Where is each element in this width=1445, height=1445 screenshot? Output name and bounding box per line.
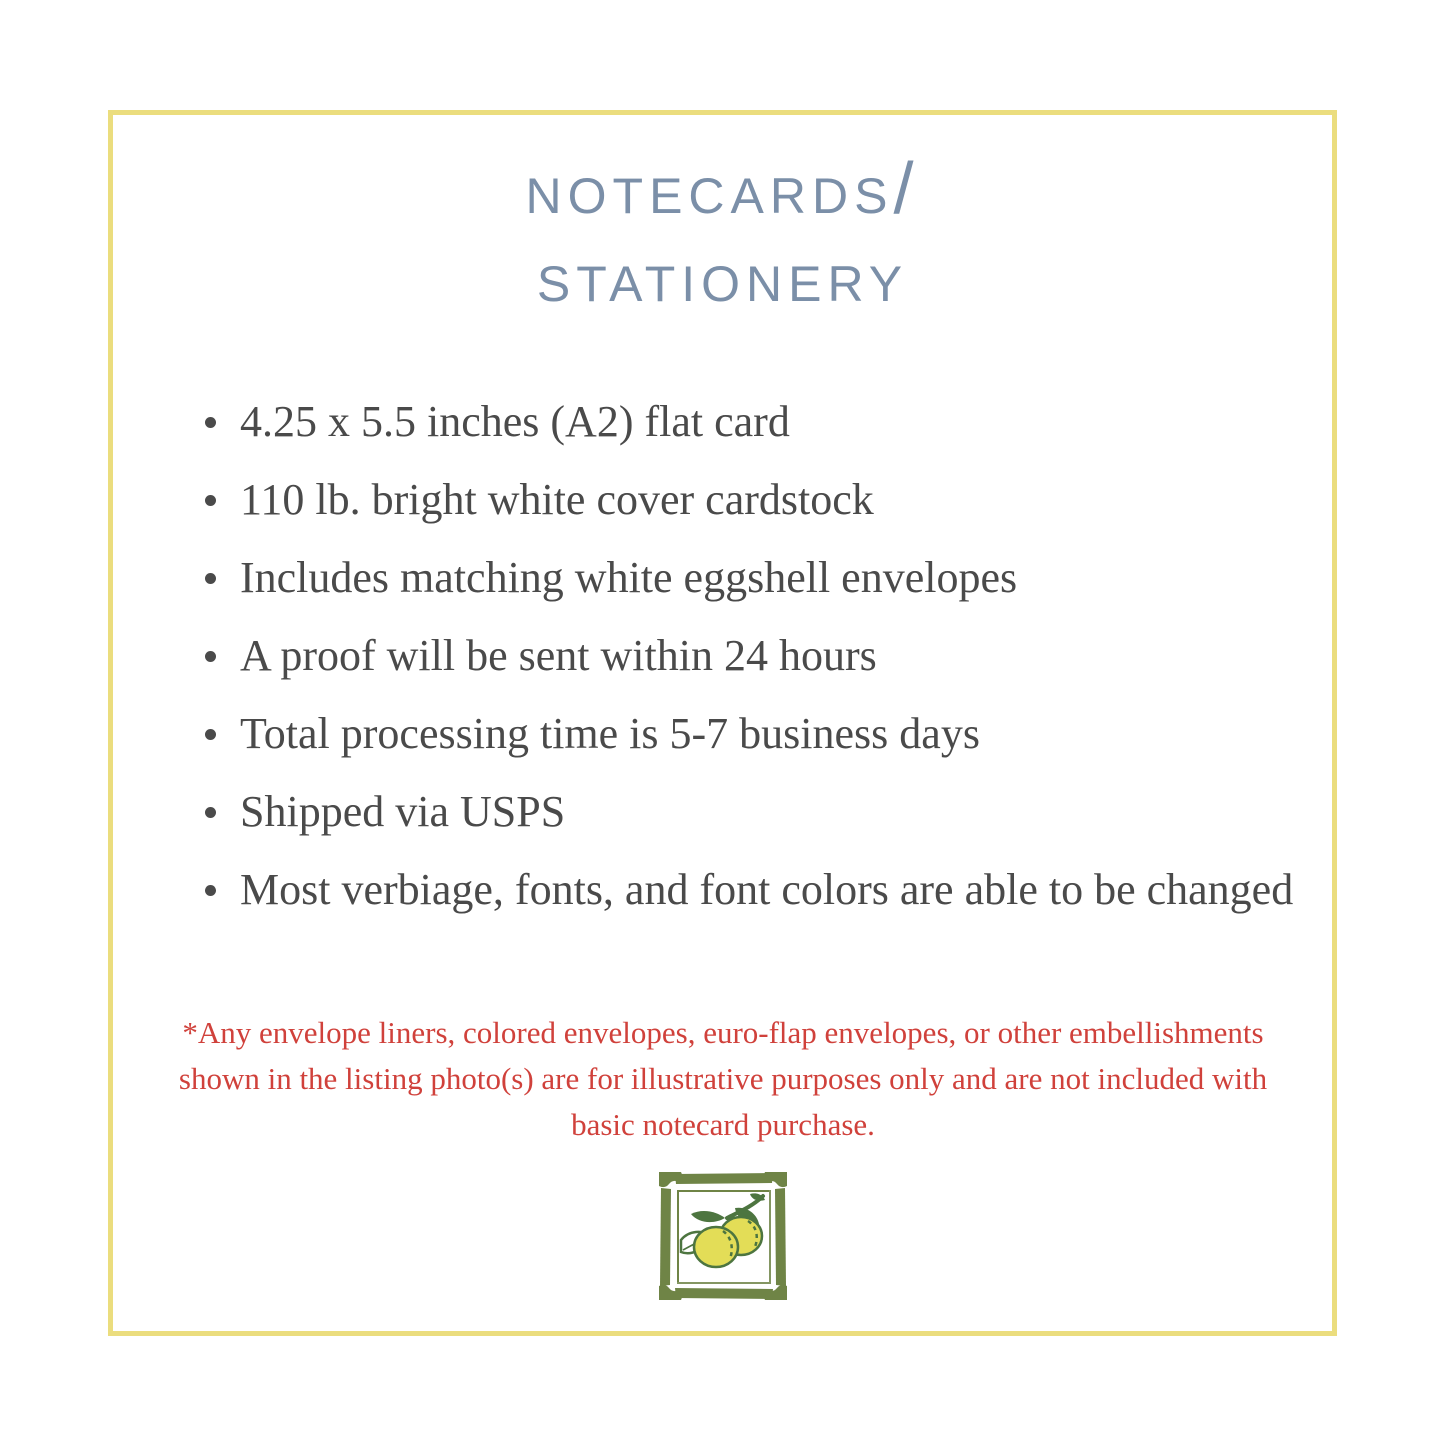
- bullet-dot-icon: [205, 417, 216, 428]
- card-content: Notecards/ Stationery 4.25 x 5.5 inches …: [113, 115, 1332, 1331]
- title-line-2: Stationery: [113, 233, 1332, 321]
- list-item-label: 110 lb. bright white cover cardstock: [240, 475, 874, 524]
- list-item: Total processing time is 5-7 business da…: [195, 695, 1295, 773]
- bullet-dot-icon: [205, 729, 216, 740]
- bullet-dot-icon: [205, 651, 216, 662]
- product-detail-list: 4.25 x 5.5 inches (A2) flat card 110 lb.…: [195, 383, 1295, 929]
- lemon-branch-framed-logo-icon: [655, 1168, 791, 1304]
- list-item: Most verbiage, fonts, and font colors ar…: [195, 851, 1295, 929]
- bullet-dot-icon: [205, 573, 216, 584]
- list-item: Includes matching white eggshell envelop…: [195, 539, 1295, 617]
- list-item-label: Shipped via USPS: [240, 787, 565, 836]
- brand-logo: [113, 1168, 1332, 1309]
- list-item-label: Total processing time is 5-7 business da…: [240, 709, 980, 758]
- list-item-label: Most verbiage, fonts, and font colors ar…: [240, 865, 1293, 914]
- list-item: Shipped via USPS: [195, 773, 1295, 851]
- page-title: Notecards/ Stationery: [113, 145, 1332, 321]
- list-item: 110 lb. bright white cover cardstock: [195, 461, 1295, 539]
- disclaimer-text: *Any envelope liners, colored envelopes,…: [158, 1010, 1288, 1148]
- bullet-dot-icon: [205, 495, 216, 506]
- list-item-label: A proof will be sent within 24 hours: [240, 631, 877, 680]
- bullet-dot-icon: [205, 885, 216, 896]
- list-item-label: 4.25 x 5.5 inches (A2) flat card: [240, 397, 790, 446]
- bullet-dot-icon: [205, 807, 216, 818]
- notecards-info-card: Notecards/ Stationery 4.25 x 5.5 inches …: [0, 0, 1445, 1445]
- list-item-label: Includes matching white eggshell envelop…: [240, 553, 1017, 602]
- list-item: 4.25 x 5.5 inches (A2) flat card: [195, 383, 1295, 461]
- list-item: A proof will be sent within 24 hours: [195, 617, 1295, 695]
- title-line-1: Notecards/: [113, 145, 1332, 233]
